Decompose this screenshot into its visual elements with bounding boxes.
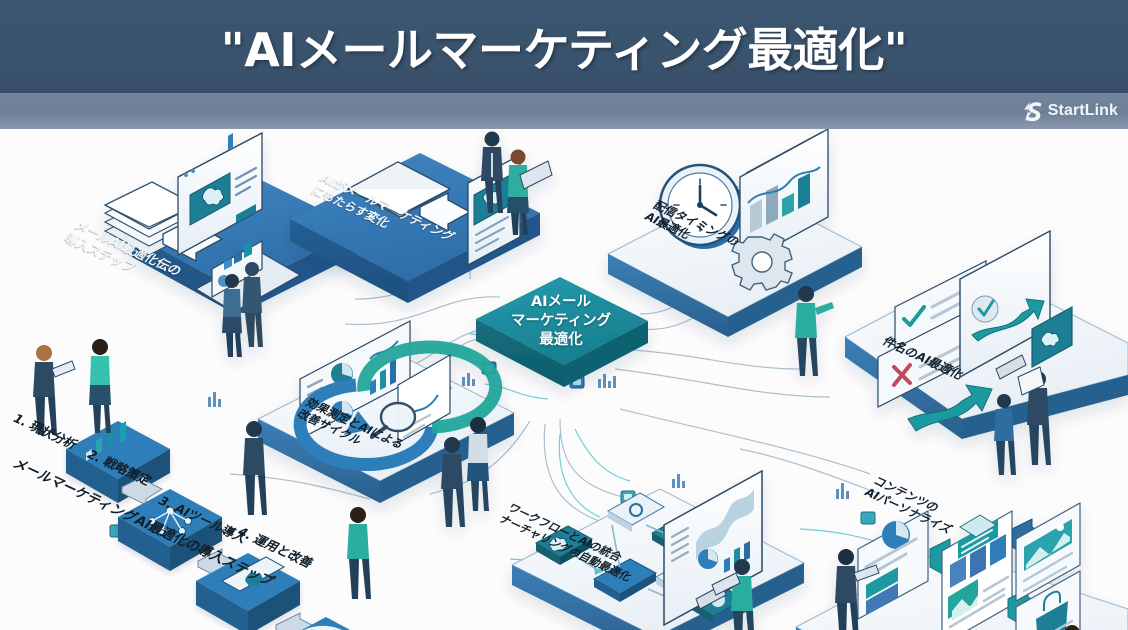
header-banner: "AIメールマーケティング最適化" bbox=[0, 0, 1128, 93]
brand-band: StartLink bbox=[0, 93, 1128, 129]
diagram-canvas: AI bbox=[0, 129, 1128, 630]
person-icon bbox=[89, 339, 111, 433]
person-icon bbox=[347, 507, 371, 599]
gear-icon bbox=[732, 234, 792, 290]
person-icon bbox=[795, 286, 834, 376]
center-node[interactable] bbox=[476, 277, 648, 387]
infographic-page: "AIメールマーケティング最適化" StartLink bbox=[0, 0, 1128, 630]
panel-subject-line[interactable] bbox=[845, 231, 1128, 475]
panel-ai-change[interactable] bbox=[290, 132, 552, 304]
startlink-s-icon bbox=[1023, 101, 1042, 122]
brand-logo: StartLink bbox=[1023, 101, 1118, 122]
panel-content-personalize[interactable] bbox=[796, 503, 1128, 630]
panel-workflow-ai[interactable]: AI bbox=[512, 471, 804, 630]
brand-name: StartLink bbox=[1048, 102, 1118, 120]
page-title: "AIメールマーケティング最適化" bbox=[221, 14, 907, 80]
panel-measure-cycle[interactable] bbox=[258, 321, 514, 527]
isometric-diagram: AI bbox=[0, 129, 1128, 630]
person-icon bbox=[33, 345, 75, 435]
